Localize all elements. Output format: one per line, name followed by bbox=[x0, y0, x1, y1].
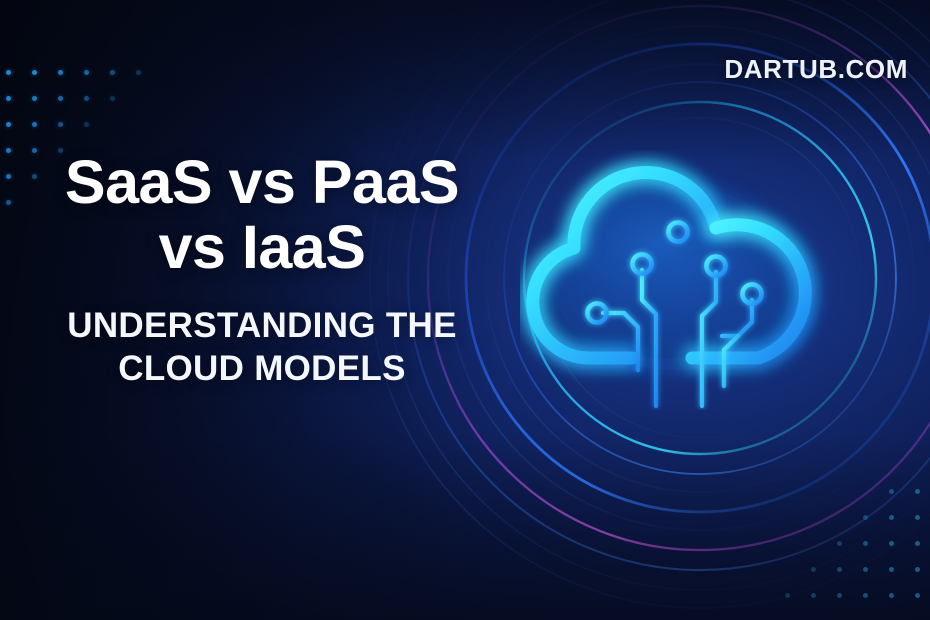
page-subtitle: UNDERSTANDING THE CLOUD MODELS bbox=[8, 305, 516, 390]
cloud-fill bbox=[530, 172, 813, 358]
page-title: SaaS vs PaaS vs IaaS bbox=[8, 150, 516, 279]
page-subtitle-line-1: UNDERSTANDING THE bbox=[67, 306, 456, 345]
site-watermark: DARTUB.COM bbox=[724, 54, 908, 85]
page-title-line-1: SaaS vs PaaS bbox=[65, 148, 459, 216]
title-block: SaaS vs PaaS vs IaaS UNDERSTANDING THE C… bbox=[8, 150, 516, 391]
poster-canvas: DARTUB.COM SaaS vs PaaS vs IaaS UNDERSTA… bbox=[0, 0, 930, 620]
page-subtitle-line-2: CLOUD MODELS bbox=[8, 348, 516, 391]
page-title-line-2: vs IaaS bbox=[8, 215, 516, 280]
cloud-circuit-icon bbox=[520, 150, 880, 410]
